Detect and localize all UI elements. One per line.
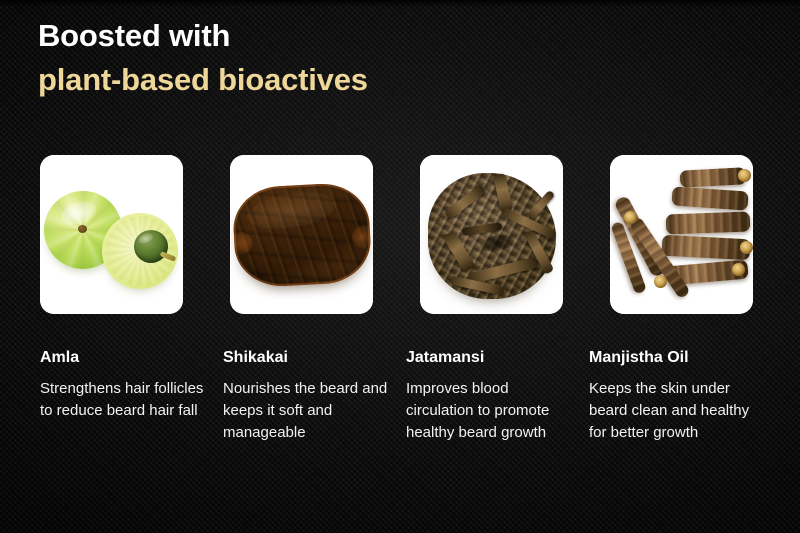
ingredient-image-cards <box>40 155 753 314</box>
manjistha-cut-end <box>740 241 753 254</box>
description-column-jatamansi: Jatamansi Improves blood circulation to … <box>406 348 589 444</box>
description-column-amla: Amla Strengthens hair follicles to reduc… <box>40 348 223 444</box>
ingredient-card-shikakai <box>230 155 373 314</box>
ingredient-description-manjistha: Keeps the skin under beard clean and hea… <box>589 378 758 444</box>
amla-stem-spot <box>78 225 87 233</box>
ingredient-descriptions: Amla Strengthens hair follicles to reduc… <box>40 348 780 444</box>
description-column-manjistha: Manjistha Oil Keeps the skin under beard… <box>589 348 772 444</box>
manjistha-photo <box>610 155 753 314</box>
manjistha-root-stick <box>680 167 747 187</box>
manjistha-cut-end <box>732 263 745 276</box>
amla-photo <box>40 155 183 314</box>
ingredient-name-amla: Amla <box>40 348 209 368</box>
manjistha-cut-end <box>624 211 637 224</box>
shikakai-pod-icon <box>231 182 372 289</box>
manjistha-cut-end <box>738 169 751 182</box>
ingredient-card-jatamansi <box>420 155 563 314</box>
manjistha-cut-end <box>654 275 667 288</box>
ingredient-description-jatamansi: Improves blood circulation to promote he… <box>406 378 575 444</box>
heading-line-accent: plant-based bioactives <box>38 58 368 102</box>
shikakai-photo <box>230 155 373 314</box>
ingredients-infographic: Boosted with plant-based bioactives <box>0 0 800 533</box>
ingredient-description-amla: Strengthens hair follicles to reduce bea… <box>40 378 209 422</box>
manjistha-root-stick <box>662 235 751 261</box>
shikakai-pod-rim <box>231 182 372 289</box>
ingredient-name-manjistha: Manjistha Oil <box>589 348 758 368</box>
ingredient-name-shikakai: Shikakai <box>223 348 392 368</box>
ingredient-name-jatamansi: Jatamansi <box>406 348 575 368</box>
jatamansi-photo <box>420 155 563 314</box>
ingredient-description-shikakai: Nourishes the beard and keeps it soft an… <box>223 378 392 444</box>
manjistha-root-stick <box>666 212 751 235</box>
amla-cut-berry-icon <box>102 213 178 289</box>
page-title: Boosted with plant-based bioactives <box>38 14 368 102</box>
description-column-shikakai: Shikakai Nourishes the beard and keeps i… <box>223 348 406 444</box>
manjistha-root-stick <box>671 186 748 210</box>
jatamansi-root-pile-icon <box>428 173 556 299</box>
ingredient-card-amla <box>40 155 183 314</box>
ingredient-card-manjistha <box>610 155 753 314</box>
heading-line-primary: Boosted with <box>38 14 368 58</box>
